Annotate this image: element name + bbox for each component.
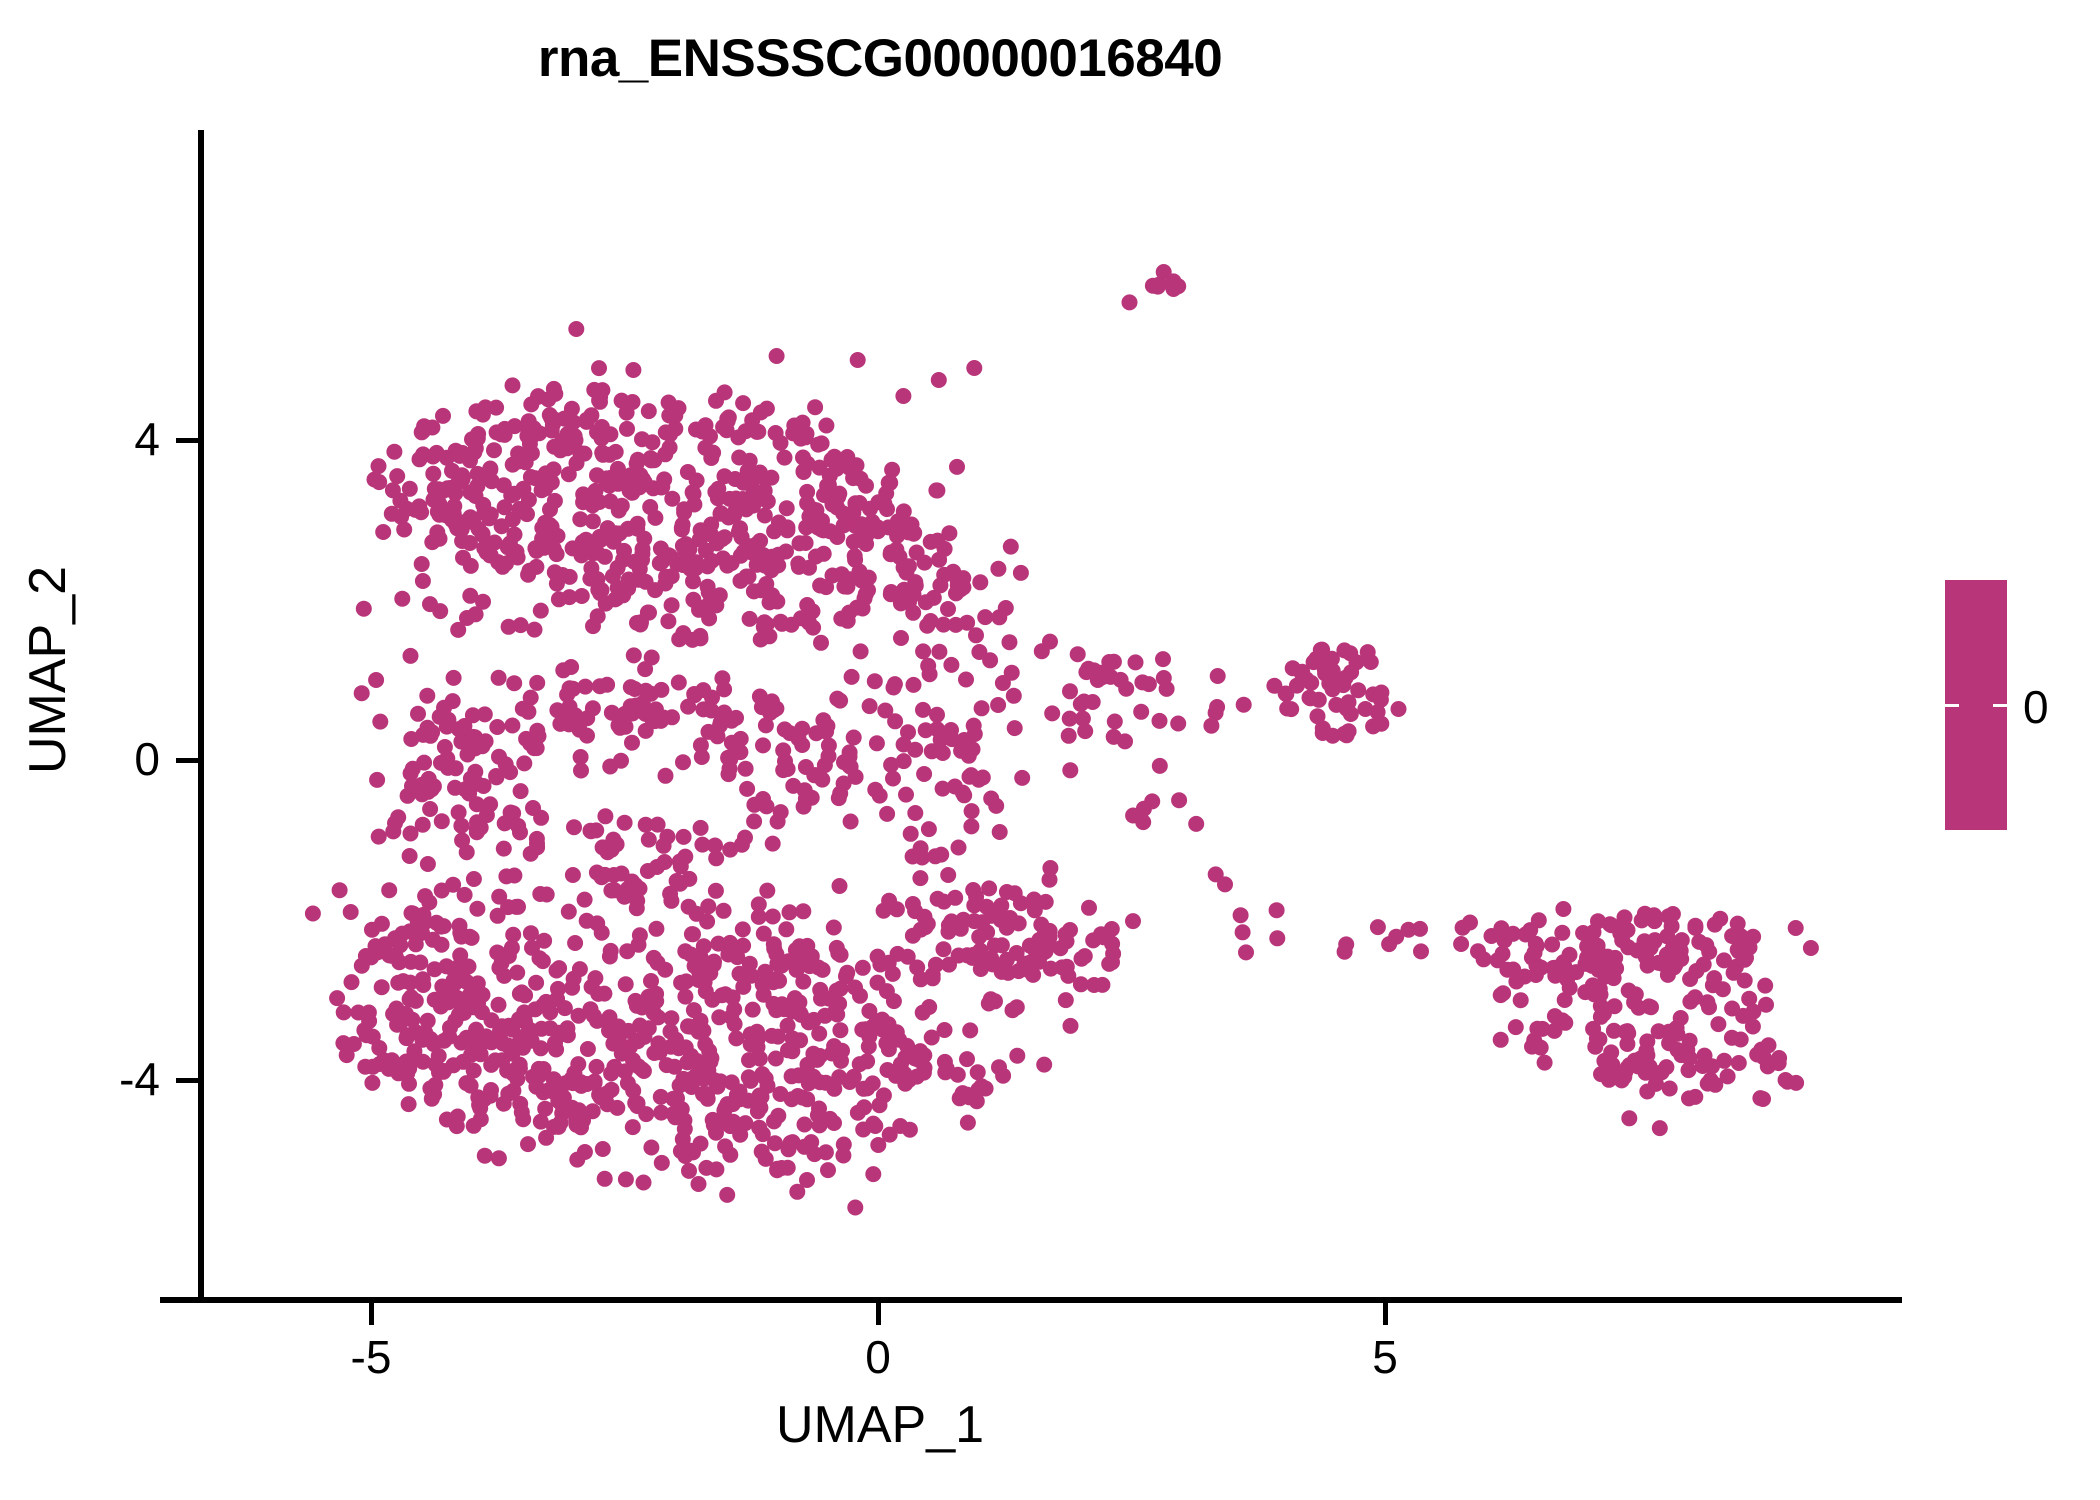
- scatter-point: [555, 662, 571, 678]
- scatter-point: [617, 815, 633, 831]
- scatter-point: [527, 1001, 543, 1017]
- scatter-point: [1156, 670, 1172, 686]
- scatter-point: [375, 524, 391, 540]
- scatter-point: [445, 877, 461, 893]
- scatter-point: [516, 755, 532, 771]
- scatter-point: [399, 1027, 415, 1043]
- scatter-point: [843, 814, 859, 830]
- scatter-point: [983, 791, 999, 807]
- scatter-point: [1658, 1059, 1674, 1075]
- scatter-point: [627, 877, 643, 893]
- scatter-point: [644, 434, 660, 450]
- scatter-point: [815, 962, 831, 978]
- scatter-point: [496, 841, 512, 857]
- scatter-point: [1125, 913, 1141, 929]
- scatter-point: [770, 814, 786, 830]
- scatter-point: [394, 591, 410, 607]
- scatter-point: [846, 730, 862, 746]
- scatter-point: [657, 854, 673, 870]
- scatter-point: [386, 1057, 402, 1073]
- scatter-point: [766, 941, 782, 957]
- scatter-point: [573, 1119, 589, 1135]
- scatter-point: [1699, 994, 1715, 1010]
- scatter-point: [1621, 983, 1637, 999]
- scatter-point: [1562, 947, 1578, 963]
- scatter-point: [844, 669, 860, 685]
- scatter-point: [631, 479, 647, 495]
- scatter-point: [1013, 895, 1029, 911]
- scatter-point: [527, 622, 543, 638]
- scatter-point: [903, 826, 919, 842]
- scatter-point: [779, 522, 795, 538]
- scatter-point: [759, 401, 775, 417]
- scatter-point: [1495, 946, 1511, 962]
- scatter-point: [506, 868, 522, 884]
- scatter-point: [784, 1091, 800, 1107]
- scatter-point: [937, 1022, 953, 1038]
- scatter-point: [680, 699, 696, 715]
- scatter-point: [872, 1097, 888, 1113]
- scatter-point: [915, 702, 931, 718]
- scatter-point: [1294, 664, 1310, 680]
- scatter-point: [503, 805, 519, 821]
- scatter-point: [477, 1148, 493, 1164]
- scatter-point: [1236, 697, 1252, 713]
- scatter-point: [1606, 1023, 1622, 1039]
- scatter-point: [449, 990, 465, 1006]
- scatter-point: [606, 867, 622, 883]
- scatter-point: [875, 1022, 891, 1038]
- scatter-point: [795, 415, 811, 431]
- scatter-point: [521, 492, 537, 508]
- scatter-point: [1033, 917, 1049, 933]
- scatter-point: [698, 983, 714, 999]
- scatter-point: [931, 552, 947, 568]
- scatter-point: [803, 1134, 819, 1150]
- scatter-point: [652, 1044, 668, 1060]
- scatter-point: [994, 937, 1010, 953]
- scatter-point: [813, 991, 829, 1007]
- scatter-point: [725, 1114, 741, 1130]
- scatter-point: [714, 987, 730, 1003]
- scatter-point: [883, 546, 899, 562]
- scatter-point: [974, 700, 990, 716]
- scatter-point: [811, 1026, 827, 1042]
- scatter-point: [805, 620, 821, 636]
- scatter-point: [475, 594, 491, 610]
- scatter-point: [900, 724, 916, 740]
- scatter-point: [795, 450, 811, 466]
- scatter-point: [856, 1099, 872, 1115]
- scatter-point: [758, 717, 774, 733]
- scatter-point: [1171, 792, 1187, 808]
- scatter-point: [1105, 946, 1121, 962]
- scatter-point: [1122, 294, 1138, 310]
- scatter-point: [770, 1108, 786, 1124]
- scatter-point: [1269, 902, 1285, 918]
- scatter-point: [1616, 1069, 1632, 1085]
- scatter-point: [821, 748, 837, 764]
- scatter-point: [500, 1086, 516, 1102]
- scatter-point: [625, 1119, 641, 1135]
- scatter-point: [955, 912, 971, 928]
- scatter-point: [1233, 907, 1249, 923]
- scatter-point: [992, 824, 1008, 840]
- scatter-point: [675, 1071, 691, 1087]
- scatter-point: [412, 955, 428, 971]
- scatter-point: [367, 472, 383, 488]
- scatter-point: [424, 781, 440, 797]
- scatter-point: [889, 528, 905, 544]
- scatter-point: [999, 920, 1015, 936]
- scatter-point: [886, 680, 902, 696]
- scatter-point: [369, 772, 385, 788]
- scatter-point: [826, 1081, 842, 1097]
- scatter-point: [483, 507, 499, 523]
- scatter-point: [1621, 1110, 1637, 1126]
- scatter-point: [1106, 729, 1122, 745]
- scatter-point: [641, 1020, 657, 1036]
- scatter-point: [929, 721, 945, 737]
- scatter-point: [842, 460, 858, 476]
- scatter-point: [681, 1163, 697, 1179]
- scatter-point: [402, 848, 418, 864]
- scatter-point: [921, 999, 937, 1015]
- scatter-point: [609, 590, 625, 606]
- scatter-point: [737, 830, 753, 846]
- scatter-point: [673, 975, 689, 991]
- scatter-point: [1662, 1081, 1678, 1097]
- scatter-point: [608, 444, 624, 460]
- scatter-point: [371, 829, 387, 845]
- scatter-point: [968, 627, 984, 643]
- scatter-point: [1586, 924, 1602, 940]
- scatter-point: [685, 926, 701, 942]
- scatter-point: [504, 1046, 520, 1062]
- scatter-point: [765, 974, 781, 990]
- scatter-point: [692, 628, 708, 644]
- scatter-point: [846, 1069, 862, 1085]
- scatter-point: [669, 873, 685, 889]
- scatter-point: [525, 800, 541, 816]
- scatter-point: [1771, 1050, 1787, 1066]
- scatter-point: [693, 820, 709, 836]
- scatter-point: [455, 1054, 471, 1070]
- scatter-point: [833, 1053, 849, 1069]
- scatter-point: [844, 506, 860, 522]
- scatter-point: [832, 1022, 848, 1038]
- scatter-point: [585, 1103, 601, 1119]
- scatter-point: [964, 803, 980, 819]
- scatter-point: [510, 818, 526, 834]
- scatter-point: [441, 1029, 457, 1045]
- scatter-point: [814, 435, 830, 451]
- scatter-point: [723, 1009, 739, 1025]
- scatter-point: [1555, 901, 1571, 917]
- scatter-point: [1036, 1057, 1052, 1073]
- scatter-point: [778, 921, 794, 937]
- scatter-point: [662, 440, 678, 456]
- scatter-point: [983, 908, 999, 924]
- scatter-point: [1528, 967, 1544, 983]
- scatter-point: [798, 535, 814, 551]
- scatter-point: [1318, 658, 1334, 674]
- scatter-point: [624, 735, 640, 751]
- scatter-point: [1752, 1090, 1768, 1106]
- scatter-point: [449, 1118, 465, 1134]
- scatter-point: [1009, 999, 1025, 1015]
- scatter-point: [896, 559, 912, 575]
- scatter-point: [656, 471, 672, 487]
- scatter-point: [862, 698, 878, 714]
- scatter-point: [453, 929, 469, 945]
- scatter-point: [455, 550, 471, 566]
- scatter-point: [970, 1064, 986, 1080]
- y-tick-mark: [176, 758, 198, 763]
- scatter-point: [1007, 720, 1023, 736]
- scatter-point: [656, 710, 672, 726]
- scatter-point: [858, 519, 874, 535]
- scatter-point: [537, 1101, 553, 1117]
- scatter-point: [524, 1033, 540, 1049]
- scatter-point: [537, 515, 553, 531]
- scatter-point: [1086, 977, 1102, 993]
- scatter-point: [625, 362, 641, 378]
- scatter-point: [305, 906, 321, 922]
- scatter-point: [785, 1134, 801, 1150]
- scatter-point: [909, 545, 925, 561]
- scatter-point: [1144, 793, 1160, 809]
- scatter-point: [754, 1089, 770, 1105]
- scatter-point: [1673, 943, 1689, 959]
- scatter-point: [1269, 930, 1285, 946]
- scatter-point: [453, 818, 469, 834]
- scatter-point: [820, 1162, 836, 1178]
- scatter-point: [446, 670, 462, 686]
- scatter-point: [1470, 943, 1486, 959]
- scatter-point: [925, 967, 941, 983]
- scatter-point: [536, 933, 552, 949]
- scatter-point: [1554, 925, 1570, 941]
- scatter-point: [350, 1005, 366, 1021]
- scatter-point: [572, 511, 588, 527]
- scatter-point: [688, 554, 704, 570]
- scatter-point: [577, 892, 593, 908]
- scatter-point: [898, 787, 914, 803]
- scatter-point: [434, 937, 450, 953]
- scatter-point: [915, 643, 931, 659]
- scatter-point: [403, 648, 419, 664]
- scatter-point: [847, 980, 863, 996]
- scatter-point: [1493, 987, 1509, 1003]
- scatter-point: [504, 718, 520, 734]
- scatter-point: [799, 1091, 815, 1107]
- scatter-point: [603, 943, 619, 959]
- scatter-point: [689, 473, 705, 489]
- scatter-point: [339, 1047, 355, 1063]
- scatter-point: [936, 567, 952, 583]
- scatter-point: [731, 450, 747, 466]
- scatter-point: [450, 622, 466, 638]
- x-tick-label: 0: [798, 1330, 958, 1384]
- scatter-point: [1188, 816, 1204, 832]
- scatter-point: [1311, 692, 1327, 708]
- scatter-point: [1060, 968, 1076, 984]
- y-axis-line: [198, 130, 204, 1302]
- scatter-point: [343, 904, 359, 920]
- scatter-point: [836, 776, 852, 792]
- scatter-point: [1745, 1004, 1761, 1020]
- scatter-point: [423, 728, 439, 744]
- scatter-point: [878, 485, 894, 501]
- scatter-point: [869, 735, 885, 751]
- scatter-point: [434, 813, 450, 829]
- scatter-point: [807, 399, 823, 415]
- scatter-point: [414, 556, 430, 572]
- scatter-point: [1365, 718, 1381, 734]
- scatter-point: [703, 517, 719, 533]
- scatter-point: [724, 938, 740, 954]
- scatter-point: [371, 1040, 387, 1056]
- x-tick-mark: [369, 1303, 374, 1325]
- scatter-point: [935, 781, 951, 797]
- scatter-point: [454, 832, 470, 848]
- scatter-point: [717, 1138, 733, 1154]
- scatter-point: [1669, 1026, 1685, 1042]
- scatter-point: [402, 991, 418, 1007]
- scatter-point: [709, 724, 725, 740]
- scatter-point: [879, 501, 895, 517]
- scatter-point: [774, 616, 790, 632]
- scatter-point: [529, 839, 545, 855]
- scatter-point: [549, 576, 565, 592]
- scatter-point: [850, 352, 866, 368]
- scatter-point: [1061, 728, 1077, 744]
- scatter-point: [636, 1175, 652, 1191]
- scatter-point: [647, 510, 663, 526]
- scatter-point: [714, 670, 730, 686]
- scatter-point: [1529, 938, 1545, 954]
- scatter-point: [791, 559, 807, 575]
- scatter-point: [1537, 1055, 1553, 1071]
- scatter-point: [847, 1200, 863, 1216]
- scatter-point: [734, 529, 750, 545]
- scatter-point: [403, 826, 419, 842]
- scatter-point: [1003, 539, 1019, 555]
- scatter-point: [703, 703, 719, 719]
- umap-scatter-plot: rna_ENSSSCG00000016840 40-4 -505 UMAP_2 …: [0, 0, 2100, 1500]
- scatter-point: [956, 732, 972, 748]
- scatter-point: [746, 797, 762, 813]
- scatter-point: [654, 554, 670, 570]
- scatter-point: [765, 836, 781, 852]
- scatter-point: [896, 503, 912, 519]
- scatter-point: [1325, 728, 1341, 744]
- scatter-point: [1695, 1058, 1711, 1074]
- scatter-point: [607, 882, 623, 898]
- scatter-point: [991, 609, 1007, 625]
- scatter-point: [404, 905, 420, 921]
- scatter-point: [960, 1115, 976, 1131]
- scatter-point: [529, 740, 545, 756]
- scatter-point: [906, 677, 922, 693]
- scatter-point: [951, 948, 967, 964]
- scatter-point: [813, 635, 829, 651]
- scatter-point: [710, 481, 726, 497]
- scatter-point: [336, 1004, 352, 1020]
- scatter-point: [415, 423, 431, 439]
- scatter-point: [630, 1058, 646, 1074]
- scatter-point: [547, 493, 563, 509]
- scatter-point: [603, 1066, 619, 1082]
- scatter-point: [469, 821, 485, 837]
- scatter-point: [1715, 981, 1731, 997]
- scatter-point: [1577, 984, 1593, 1000]
- scatter-point: [1585, 1021, 1601, 1037]
- scatter-point: [962, 769, 978, 785]
- scatter-point: [550, 981, 566, 997]
- scatter-point: [695, 1086, 711, 1102]
- scatter-point: [833, 947, 849, 963]
- scatter-point: [511, 453, 527, 469]
- scatter-point: [735, 395, 751, 411]
- scatter-point: [1073, 696, 1089, 712]
- scatter-point: [674, 520, 690, 536]
- scatter-point: [893, 630, 909, 646]
- y-tick-mark: [176, 438, 198, 443]
- scatter-point: [1006, 688, 1022, 704]
- scatter-point: [777, 450, 793, 466]
- scatter-point: [1484, 928, 1500, 944]
- scatter-point: [552, 716, 568, 732]
- scatter-point: [502, 536, 518, 552]
- scatter-point: [749, 1024, 765, 1040]
- scatter-point: [799, 1172, 815, 1188]
- scatter-point: [431, 1048, 447, 1064]
- scatter-point: [643, 973, 659, 989]
- scatter-point: [364, 1075, 380, 1091]
- scatter-point: [486, 442, 502, 458]
- scatter-point: [900, 949, 916, 965]
- scatter-point: [676, 829, 692, 845]
- scatter-point: [448, 760, 464, 776]
- scatter-point: [402, 975, 418, 991]
- scatter-point: [592, 678, 608, 694]
- scatter-point: [905, 928, 921, 944]
- scatter-point: [1013, 565, 1029, 581]
- scatter-point: [464, 431, 480, 447]
- scatter-point: [1682, 994, 1698, 1010]
- scatter-point: [719, 1187, 735, 1203]
- scatter-point: [735, 921, 751, 937]
- scatter-point: [1094, 669, 1110, 685]
- scatter-point: [842, 758, 858, 774]
- scatter-point: [1217, 876, 1233, 892]
- scatter-point: [502, 764, 518, 780]
- scatter-point: [907, 903, 923, 919]
- scatter-point: [674, 1101, 690, 1117]
- scatter-point: [436, 700, 452, 716]
- scatter-point: [744, 412, 760, 428]
- scatter-point: [583, 560, 599, 576]
- scatter-point: [483, 1057, 499, 1073]
- scatter-point: [638, 723, 654, 739]
- scatter-point: [1118, 681, 1134, 697]
- scatter-point: [1757, 978, 1773, 994]
- scatter-point: [1716, 952, 1732, 968]
- scatter-point: [777, 721, 793, 737]
- scatter-point: [479, 807, 495, 823]
